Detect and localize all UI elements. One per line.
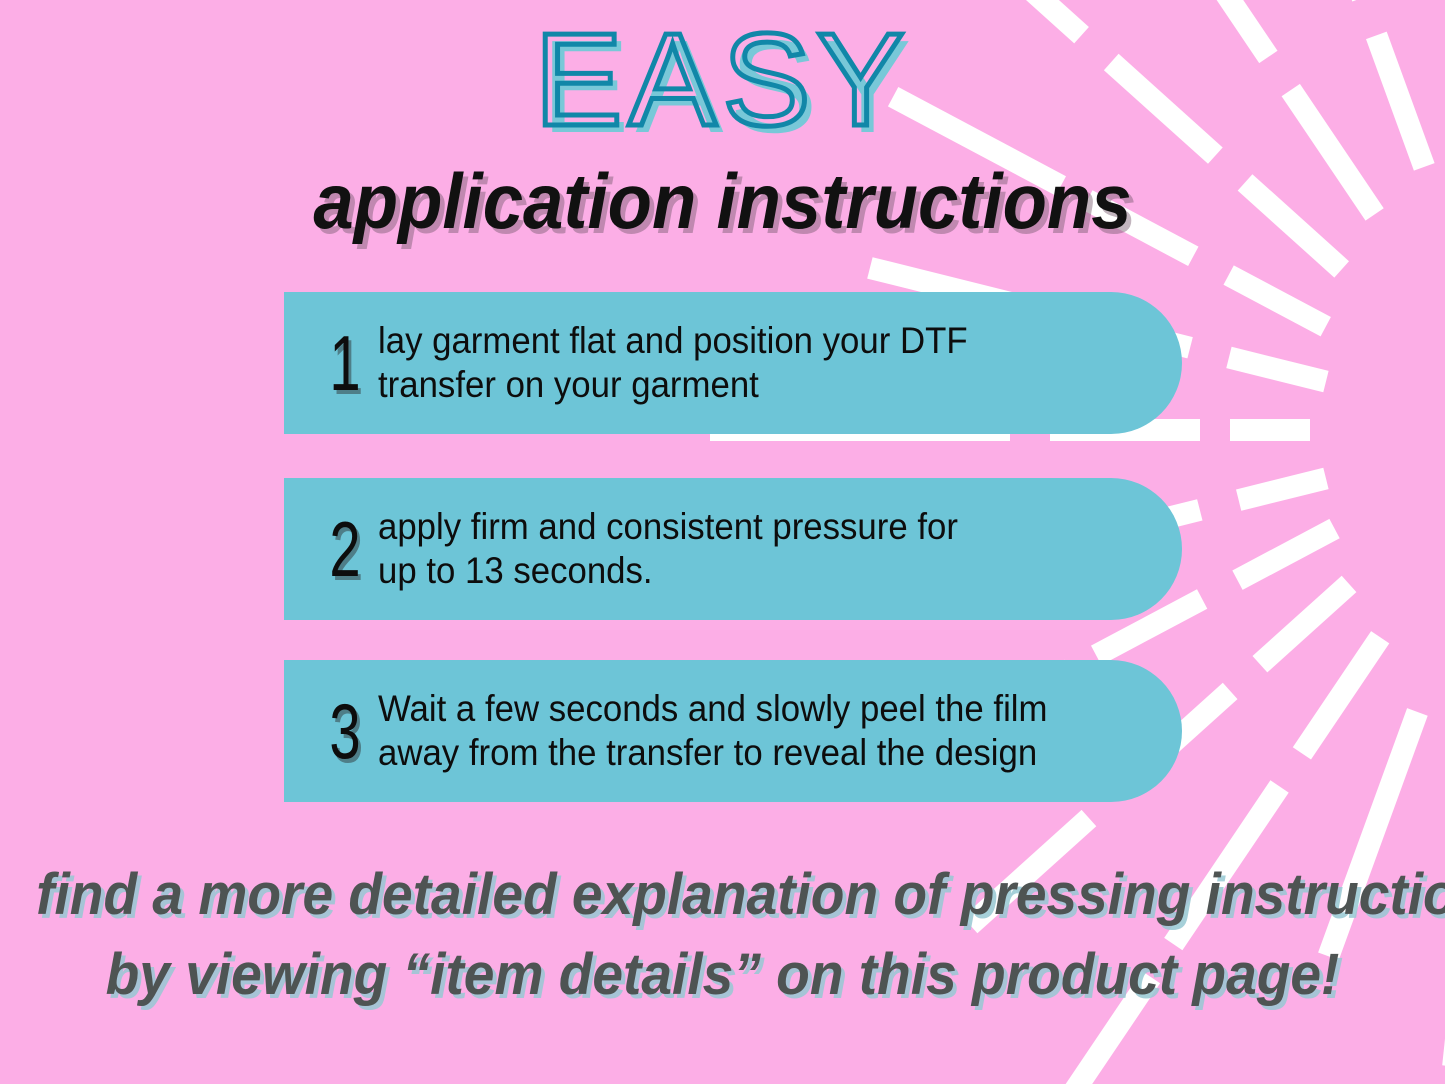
instruction-graphic-canvas: EASY application instructions 1 lay garm… xyxy=(0,0,1445,1084)
step-text-1: lay garment flat and position your DTF t… xyxy=(378,319,1134,406)
step-text-2: apply firm and consistent pressure for u… xyxy=(378,505,1134,592)
step-number-2: 2 xyxy=(321,510,369,588)
footer-line-2: by viewing “item details” on this produc… xyxy=(36,935,1409,1015)
step-text-3: Wait a few seconds and slowly peel the f… xyxy=(378,687,1134,774)
page-title: EASY xyxy=(0,14,1445,146)
footer-note: find a more detailed explanation of pres… xyxy=(0,855,1445,1015)
footer-line-1: find a more detailed explanation of pres… xyxy=(36,855,1409,935)
page-subtitle: application instructions xyxy=(51,162,1395,240)
step-pill-2: 2 apply firm and consistent pressure for… xyxy=(284,478,1182,620)
step-pill-1: 1 lay garment flat and position your DTF… xyxy=(284,292,1182,434)
step-pill-3: 3 Wait a few seconds and slowly peel the… xyxy=(284,660,1182,802)
step-number-3: 3 xyxy=(321,692,369,770)
step-number-1: 1 xyxy=(321,324,369,402)
